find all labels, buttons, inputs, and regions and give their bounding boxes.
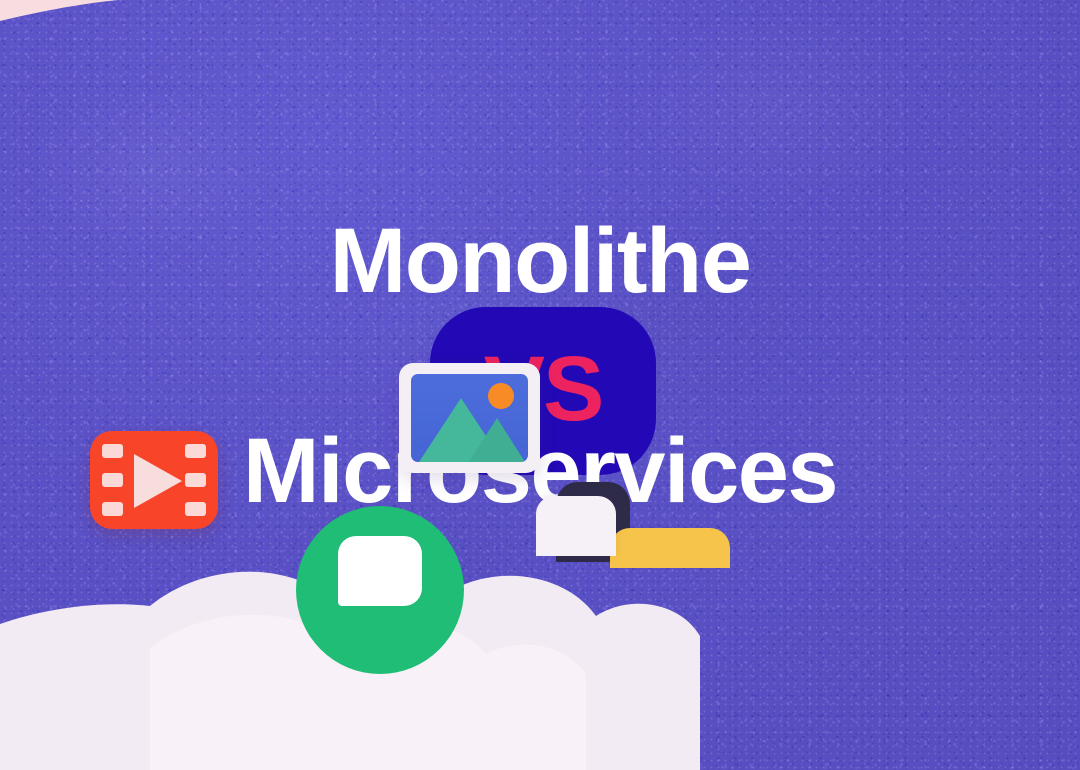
film-sprocket-hole xyxy=(102,444,123,458)
cloud-blob xyxy=(0,550,1080,770)
pink-corner-wedge xyxy=(0,0,146,30)
mountain-shape xyxy=(469,418,525,462)
film-sprocket-hole xyxy=(185,444,206,458)
bottom-illustration xyxy=(0,550,1080,770)
film-sprocket-hole xyxy=(102,473,123,487)
green-chat-circle-icon xyxy=(296,506,464,674)
photo-image-icon xyxy=(399,363,540,473)
poster-canvas: VS Monolithe Microservices xyxy=(0,0,1080,770)
film-sprocket-hole xyxy=(102,502,123,516)
photo-screen xyxy=(411,374,528,462)
play-triangle-icon xyxy=(134,454,182,508)
film-video-icon xyxy=(90,431,218,529)
chat-bubble-inner xyxy=(338,536,422,606)
yellow-rounded-shape xyxy=(610,528,730,568)
film-sprocket-hole xyxy=(185,502,206,516)
white-card-shape xyxy=(536,496,616,556)
film-sprocket-hole xyxy=(185,473,206,487)
